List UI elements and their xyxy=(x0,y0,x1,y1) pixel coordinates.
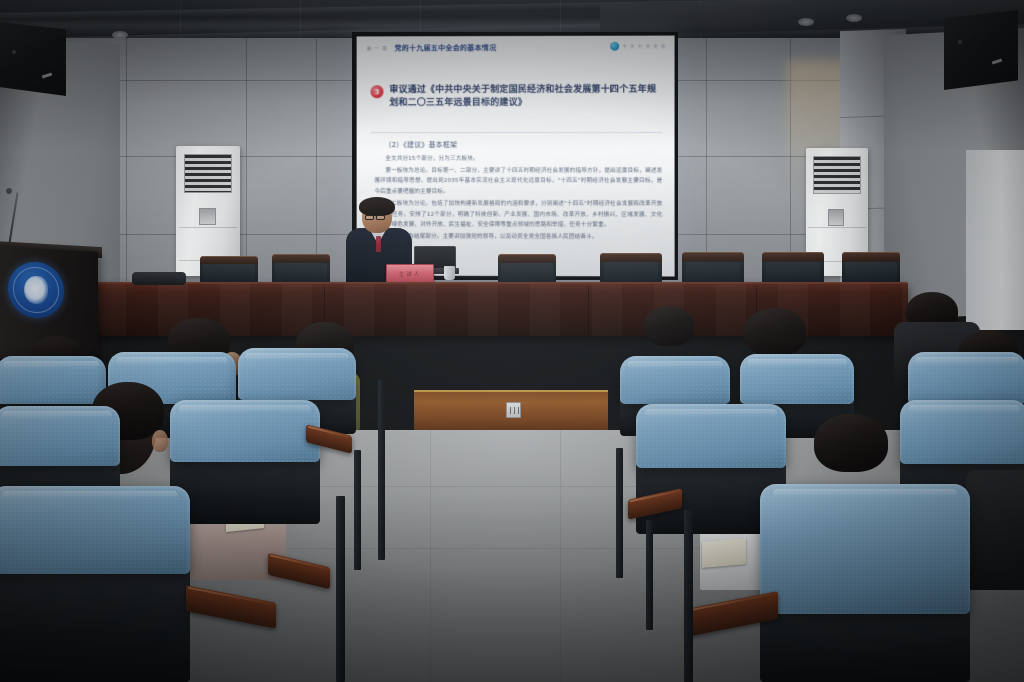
slide-logo-text: 中 共 中 央 党 校 xyxy=(623,43,667,49)
stage-front-panel xyxy=(414,390,608,434)
presenter-nameplate-text: 主讲人 xyxy=(399,270,422,278)
presenter-hair xyxy=(359,197,395,216)
microphone-icon xyxy=(6,188,12,194)
seat-leg xyxy=(336,496,345,682)
seat-leg xyxy=(684,510,693,682)
slide-main-bullet: 3 审议通过《中共中央关于制定国民经济和社会发展第十四个五年规划和二〇三五年远景… xyxy=(371,84,663,110)
auditorium-seat[interactable] xyxy=(908,352,1024,404)
attendee-torso xyxy=(966,470,1024,590)
power-outlet-icon[interactable] xyxy=(506,402,521,418)
slide-body-line: 第一板块为总论。目标第一、二部分，主要讲了十四五时期经济社会发展的指导方针，提出… xyxy=(374,166,662,198)
slide-logo: 中 共 中 央 党 校 xyxy=(611,42,667,51)
eyeglasses-icon xyxy=(376,215,385,220)
slide-body-line: 第三板块为结尾部分。主要讲加强党的领导，以及动员全党全国各族人民团结奋斗。 xyxy=(374,232,662,243)
auditorium-seat[interactable] xyxy=(760,484,970,614)
wall-speaker-left-icon xyxy=(0,22,66,96)
stage-chair xyxy=(842,252,900,286)
attendee-head xyxy=(744,308,806,356)
slide-header-title: 党的十九届五中全会的基本情况 xyxy=(395,43,497,53)
wall-white-return xyxy=(966,150,1024,330)
slide-divider xyxy=(371,132,663,133)
conference-hall-photo: 第 一 章 党的十九届五中全会的基本情况 中 共 中 央 党 校 3 审议通过《… xyxy=(0,0,1024,682)
auditorium-seat[interactable] xyxy=(620,356,730,404)
wall-speaker-right-icon xyxy=(944,10,1018,90)
ac-grille-icon xyxy=(184,154,233,193)
auditorium-seat[interactable] xyxy=(238,348,356,400)
attendee-head xyxy=(644,306,694,346)
eyeglasses-icon xyxy=(365,215,374,220)
slide-bullet-number-icon: 3 xyxy=(371,85,384,98)
ac-control-panel[interactable] xyxy=(199,208,216,225)
stage-chair xyxy=(762,252,824,286)
water-cup xyxy=(444,266,455,280)
auditorium-seat[interactable] xyxy=(740,354,854,404)
slide-breadcrumb: 第 一 章 xyxy=(367,45,388,52)
auditorium-seat[interactable] xyxy=(636,404,786,468)
ac-grille-icon xyxy=(813,156,860,194)
ac-control-panel[interactable] xyxy=(828,209,844,226)
presenter-tie xyxy=(376,236,381,252)
attendee-head xyxy=(814,414,888,472)
auditorium-seat[interactable] xyxy=(0,486,190,574)
slide-body-line: 全文共分15个部分，分为三大板块。 xyxy=(374,154,662,165)
auditorium-seat[interactable] xyxy=(170,400,320,462)
attendee-face xyxy=(152,430,168,452)
seat-leg xyxy=(616,448,623,578)
seat-leg xyxy=(378,380,385,560)
seat-leg xyxy=(646,520,653,630)
slide-body-text: 全文共分15个部分，分为三大板块。 第一板块为总论。目标第一、二部分，主要讲了十… xyxy=(374,154,662,244)
auditorium-seat[interactable] xyxy=(0,356,106,404)
auditorium-seat[interactable] xyxy=(900,400,1024,464)
seat-leg xyxy=(354,450,361,570)
stage-chair xyxy=(682,252,744,286)
auditorium-seat[interactable] xyxy=(0,406,120,466)
slide-logo-mark-icon xyxy=(611,42,620,51)
seat-base xyxy=(0,560,190,682)
desk-item-bag xyxy=(132,272,186,285)
slide-body-line: 第二板块为分论。包括了加快构建新发展格局的内涵和要求，分别阐述"十四五"时期经济… xyxy=(374,199,662,232)
attendee-paper xyxy=(702,538,746,568)
presenter-nameplate: 主讲人 xyxy=(386,264,434,283)
slide-header: 第 一 章 党的十九届五中全会的基本情况 中 共 中 央 党 校 xyxy=(357,36,675,61)
slide-bullet-text: 审议通过《中共中央关于制定国民经济和社会发展第十四个五年规划和二〇三五年远景目标… xyxy=(389,84,662,110)
slide-subheading: （2）《建议》基本框架 xyxy=(384,140,457,150)
